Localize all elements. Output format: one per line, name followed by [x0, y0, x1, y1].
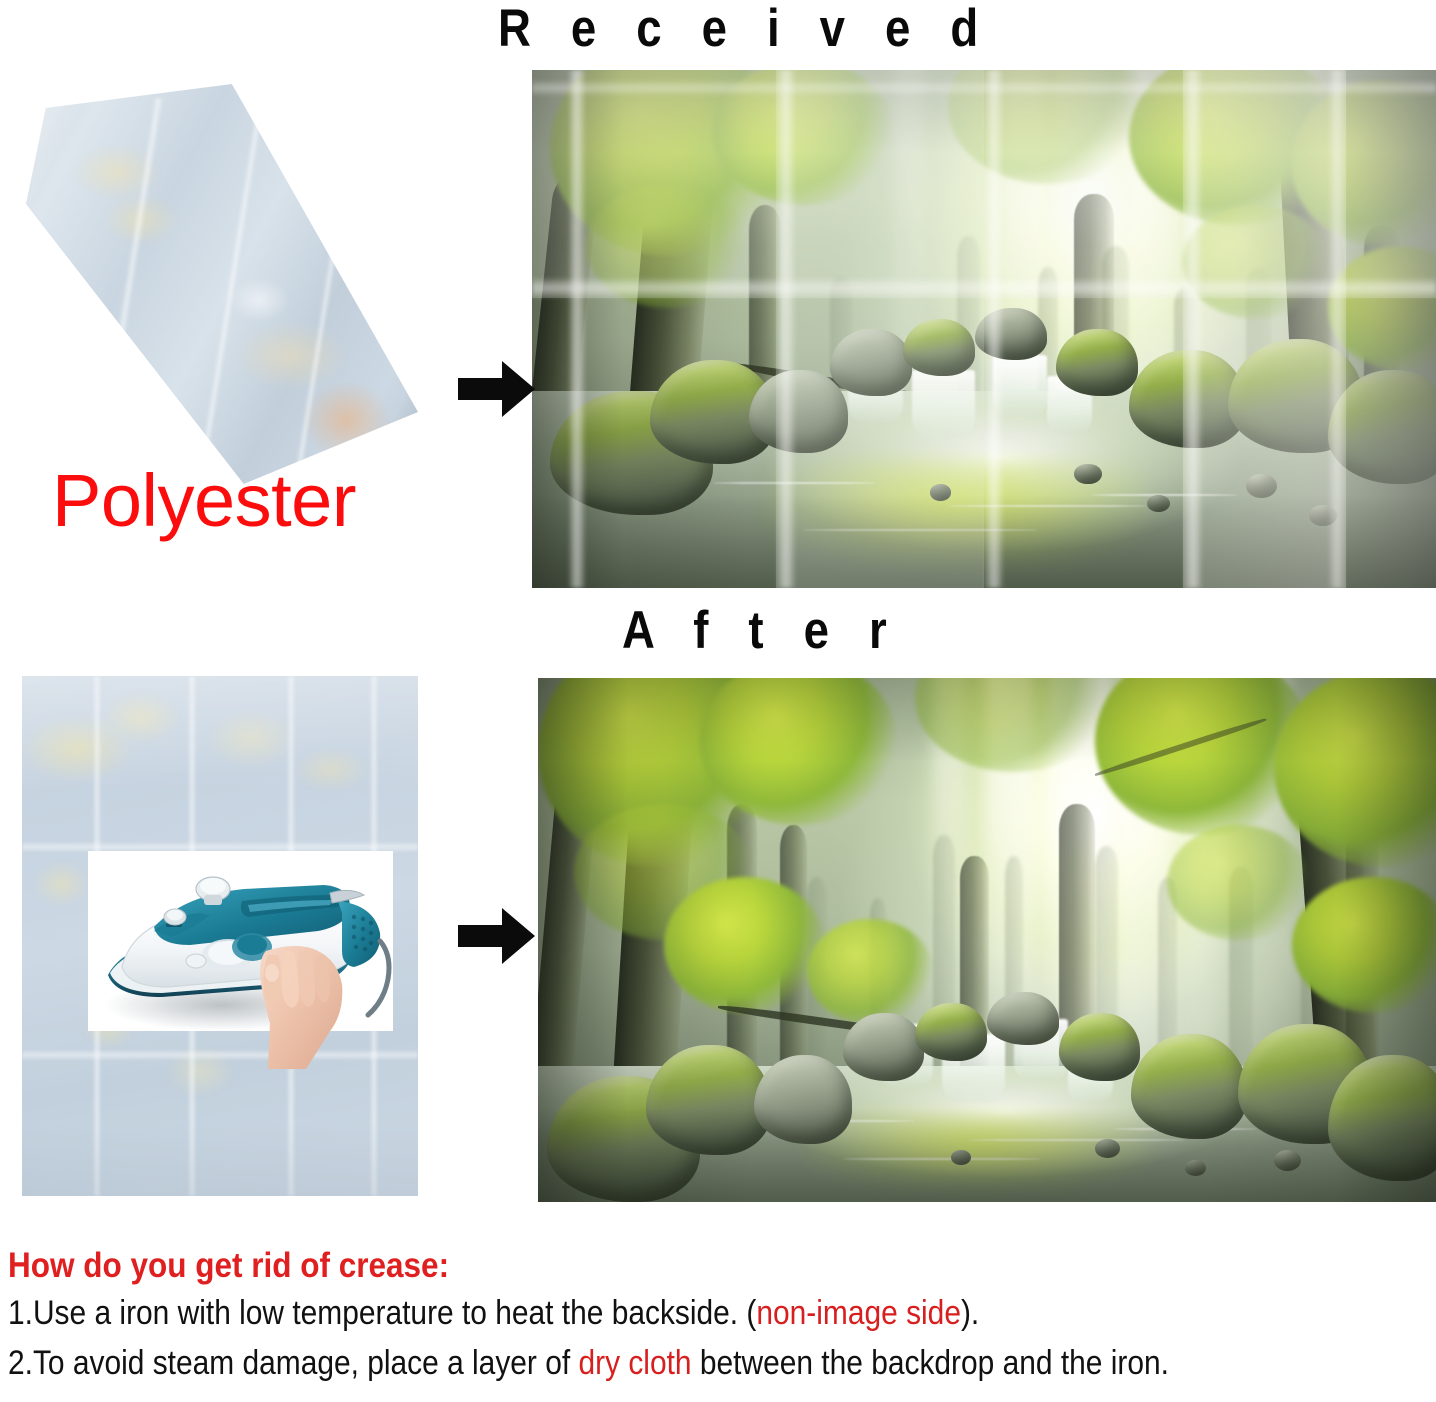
step2-highlight: dry cloth: [578, 1344, 691, 1382]
fabric-roll-edge: [22, 84, 418, 484]
forest-scene-smooth: [538, 678, 1436, 1202]
hand-graphic: [260, 946, 342, 1069]
after-heading: A f t e r: [622, 600, 900, 661]
received-backdrop-photo: [532, 70, 1436, 588]
instructions-block: How do you get rid of crease: 1.Use a ir…: [8, 1248, 1436, 1385]
iron-illustration: [92, 855, 392, 1070]
step2-prefix: 2.To avoid steam damage, place a layer o…: [8, 1344, 578, 1382]
received-heading: R e c e i v e d: [498, 0, 992, 59]
instructions-heading: How do you get rid of crease:: [8, 1248, 1293, 1285]
fog-haze-top: [532, 70, 1436, 246]
right-arrow-icon: [458, 358, 536, 425]
step1-prefix: 1.Use a iron with low temperature to hea…: [8, 1294, 756, 1332]
step1-highlight: non-image side: [756, 1294, 961, 1332]
fabric-roll-photo: [22, 84, 418, 484]
instruction-step-1: 1.Use a iron with low temperature to hea…: [8, 1291, 1265, 1335]
forest-scene-creased: [532, 70, 1436, 588]
iron-cord-guard: [338, 901, 380, 967]
step1-suffix: ).: [961, 1294, 979, 1332]
polyester-label: Polyester: [52, 458, 356, 543]
after-backdrop-photo: [538, 678, 1436, 1202]
instruction-step-2: 2.To avoid steam damage, place a layer o…: [8, 1341, 1265, 1385]
step2-suffix: between the backdrop and the iron.: [692, 1344, 1169, 1382]
infographic-root: R e c e i v e d Polyester: [0, 0, 1436, 1402]
right-arrow-icon: [458, 905, 536, 972]
